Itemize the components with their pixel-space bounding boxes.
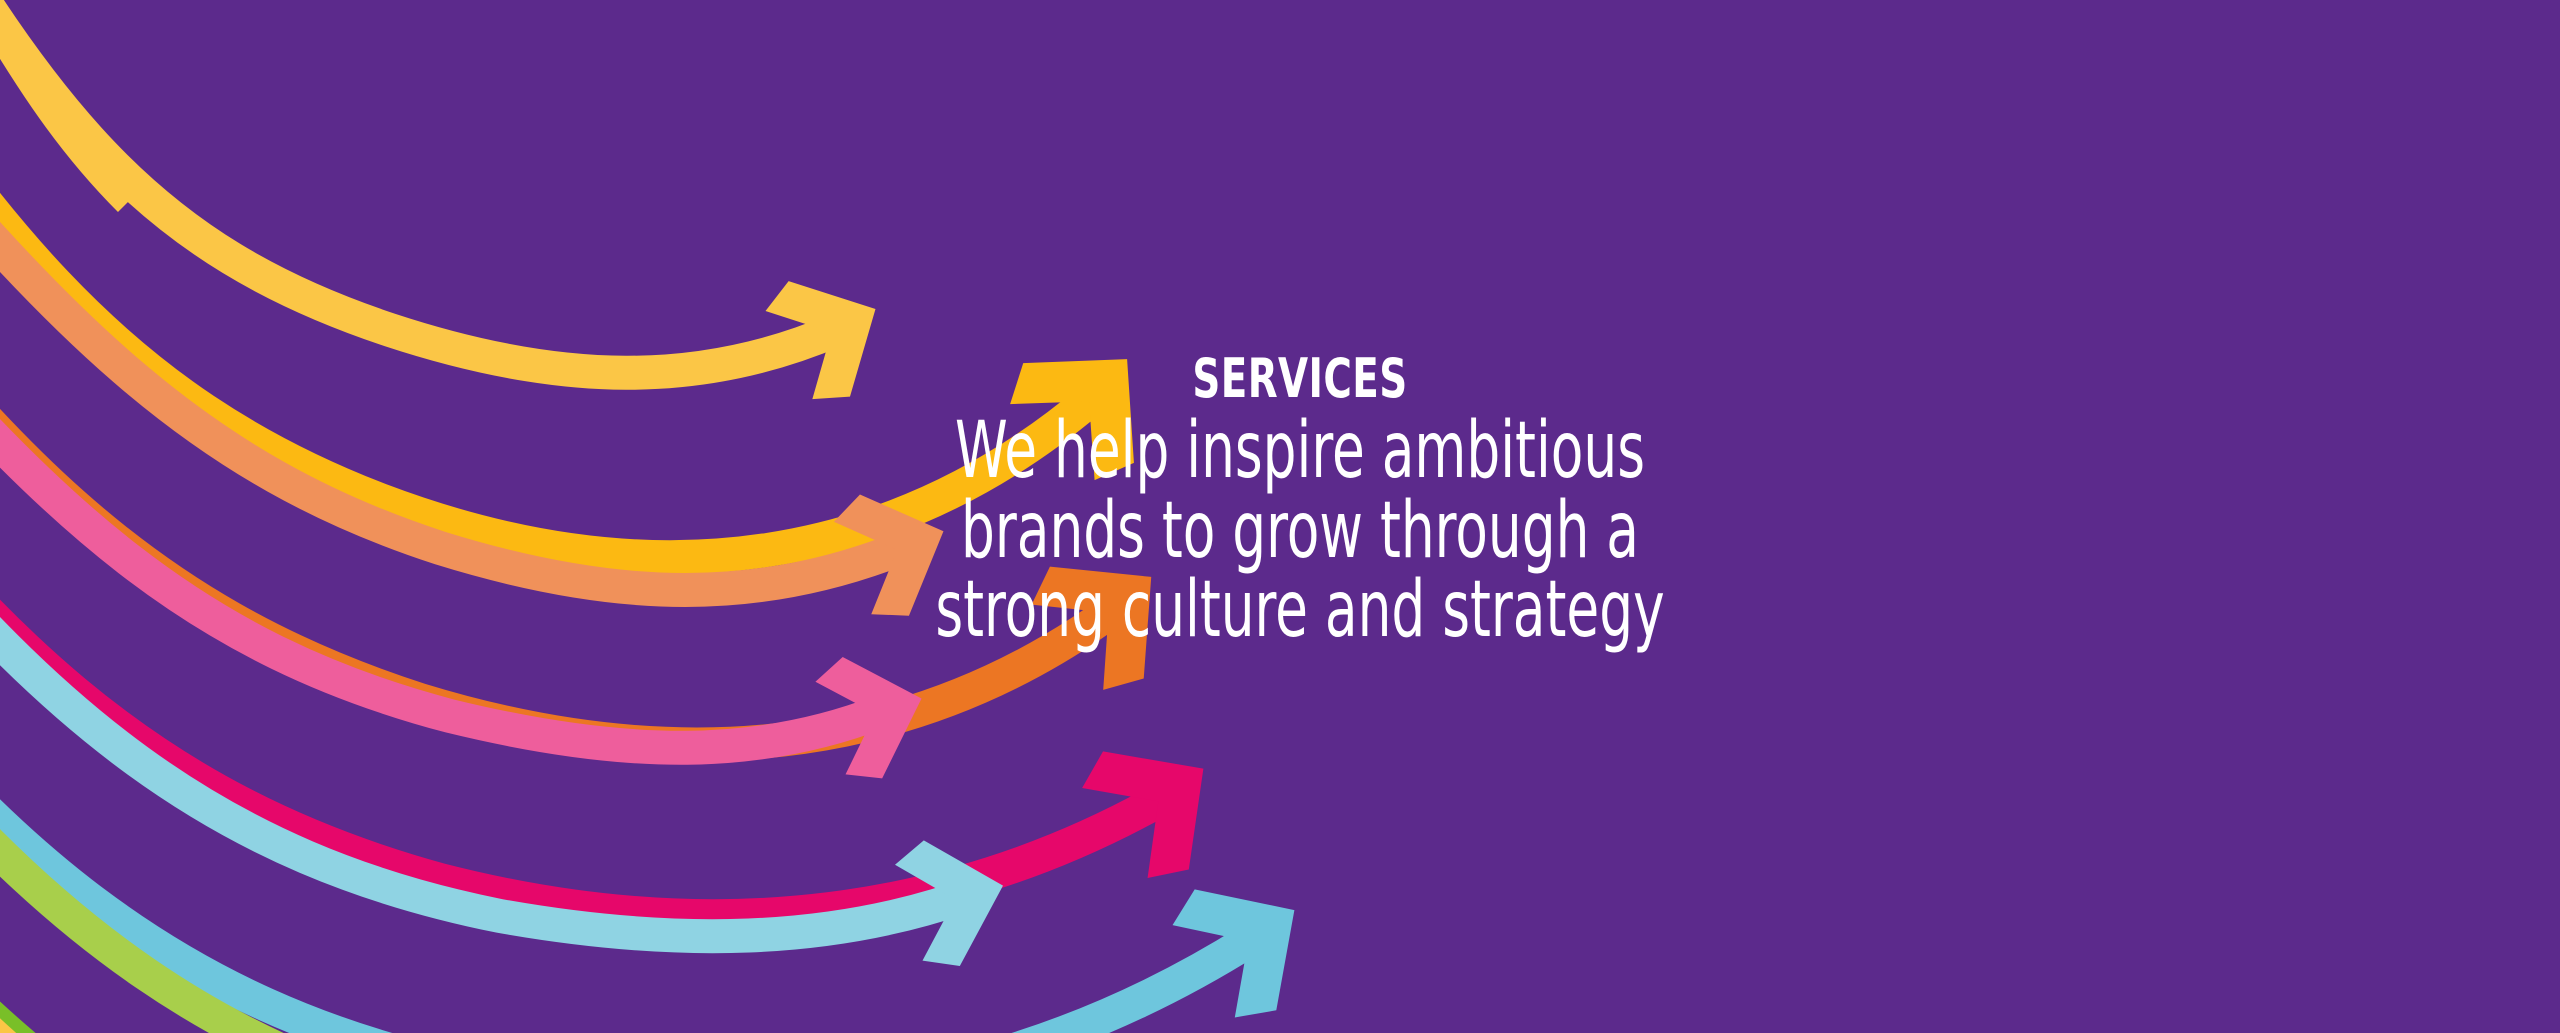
- headline-line-2: brands to grow through a: [905, 492, 1695, 572]
- headline: We help inspire ambitious brands to grow…: [905, 412, 1695, 651]
- headline-line-3: strong culture and strategy: [905, 571, 1695, 651]
- eyebrow-heading: SERVICES: [884, 352, 1716, 406]
- headline-line-1: We help inspire ambitious: [905, 412, 1695, 492]
- hero-banner: SERVICES We help inspire ambitious brand…: [0, 0, 2560, 1033]
- hero-copy-block: SERVICES We help inspire ambitious brand…: [780, 352, 1820, 651]
